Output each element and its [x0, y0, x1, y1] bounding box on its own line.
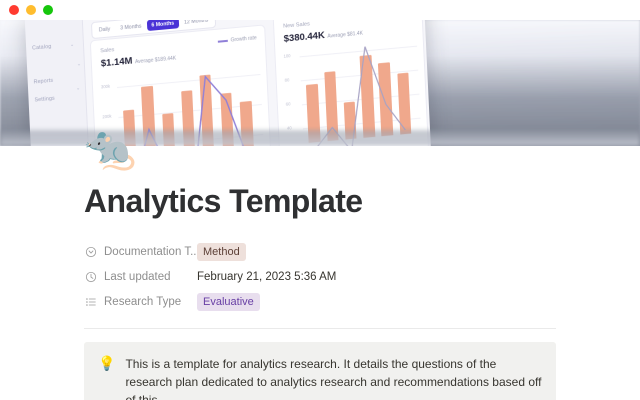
newsales-ytick-100: 100 [283, 53, 290, 59]
newsales-ytick-80: 80 [285, 77, 290, 82]
dashboard-tab-3months: 3 Months [115, 20, 146, 34]
property-value-last-updated[interactable]: February 21, 2023 5:36 AM [197, 271, 336, 283]
property-row-last-updated[interactable]: Last updated February 21, 2023 5:36 AM [84, 264, 556, 289]
dashboard-tab-daily: Daily [94, 23, 115, 36]
dashboard-card-sales-value: $1.14MAverage $189.44K [101, 52, 177, 70]
property-row-research-type[interactable]: Research Type Evaluative [84, 289, 556, 314]
chevron-down-icon: ⌄ [70, 42, 74, 48]
chevron-down-icon: ⌄ [76, 85, 80, 91]
close-window-button[interactable] [9, 5, 19, 15]
callout-block[interactable]: 💡 This is a template for analytics resea… [84, 342, 556, 400]
property-value-research-type[interactable]: Evaluative [197, 293, 260, 311]
property-value-documentation-type[interactable]: Method [197, 243, 246, 261]
dashboard-card-sales-title: Sales [100, 47, 114, 54]
dashboard-nav-catalog: Catalog [32, 44, 51, 52]
clock-icon [84, 270, 98, 284]
property-label-text: Last updated [104, 271, 171, 283]
newsales-ytick-60: 60 [286, 101, 291, 106]
window-titlebar [0, 0, 640, 20]
page-body: Analytics Template Documentation T... Me… [0, 146, 640, 400]
dashboard-nav-settings: Settings [34, 96, 55, 104]
content-divider [84, 328, 556, 329]
legend-swatch-icon [218, 40, 228, 42]
multi-select-icon [84, 295, 98, 309]
property-label-documentation-type[interactable]: Documentation T... [84, 245, 197, 259]
property-label-text: Research Type [104, 296, 181, 308]
dashboard-sidebar: Catalog ⌄ Reports ⌄ Settings ⌄ [25, 20, 91, 146]
dashboard-card-new-sales-subtitle: Average $81.4K [327, 31, 363, 40]
dashboard-tab-12months: 12 Months [179, 20, 213, 28]
select-property-icon [84, 245, 98, 259]
minimize-window-button[interactable] [26, 5, 36, 15]
dashboard-card-sales-subtitle: Average $189.44K [135, 56, 176, 66]
chevron-down-icon: ⌄ [77, 61, 81, 67]
property-row-documentation-type[interactable]: Documentation T... Method [84, 239, 556, 264]
property-label-last-updated[interactable]: Last updated [84, 270, 197, 284]
app-window: Catalog ⌄ Reports ⌄ Settings ⌄ Daily 3 M… [0, 0, 640, 400]
dashboard-card-new-sales-value: $380.44KAverage $81.4K [283, 27, 363, 45]
page-properties: Documentation T... Method Last updated [84, 239, 556, 314]
callout-text[interactable]: This is a template for analytics researc… [125, 355, 542, 400]
sales-ytick-200k: 200k [102, 114, 111, 120]
status-badge-evaluative: Evaluative [197, 293, 260, 311]
dashboard-card-new-sales: New Sales $380.44KAverage $81.4K 100 80 … [273, 20, 429, 146]
dashboard-card-new-sales-title: New Sales [283, 21, 310, 29]
zoom-window-button[interactable] [43, 5, 53, 15]
dashboard-legend-growth-rate: Growth rate [218, 35, 257, 45]
dashboard-tab-6months: 6 Months [147, 20, 179, 31]
lightbulb-icon: 💡 [98, 355, 115, 372]
property-label-text: Documentation T... [104, 246, 197, 258]
status-badge-method: Method [197, 243, 246, 261]
rat-emoji[interactable]: 🐀 [84, 124, 132, 172]
page-title[interactable]: Analytics Template [84, 184, 556, 219]
dashboard-nav-reports: Reports [34, 78, 54, 86]
sales-ytick-300k: 300k [101, 84, 110, 90]
property-label-research-type[interactable]: Research Type [84, 295, 197, 309]
